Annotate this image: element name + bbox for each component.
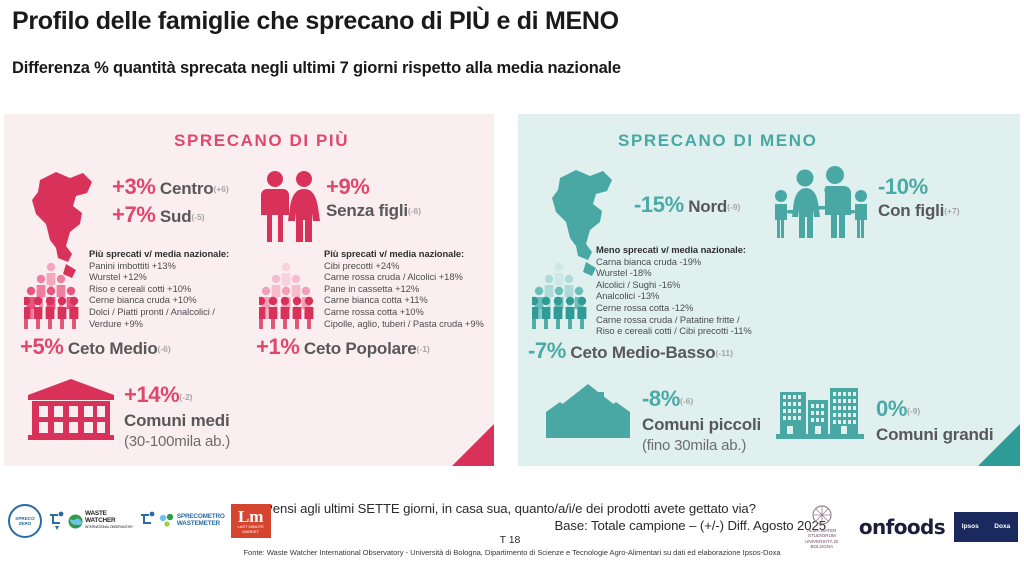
town-large-value: 0% bbox=[876, 396, 907, 421]
family-icon bbox=[771, 166, 871, 240]
globe-icon bbox=[68, 514, 83, 529]
geo-centro-delta: (+6) bbox=[213, 184, 228, 194]
lm-letter: Lm bbox=[238, 509, 264, 524]
sm-line2: WASTEMETER bbox=[177, 521, 225, 528]
unibo-text: ALMA MATER STUDIORUM UNIVERSITÀ DI BOLOG… bbox=[794, 528, 850, 550]
town-small-sublabel: (fino 30mila ab.) bbox=[642, 437, 761, 454]
lm-sub2: MARKET bbox=[242, 529, 259, 534]
waste-watcher-logo: WASTE WATCHER INTERNATIONAL OBSERVATORY bbox=[48, 511, 133, 531]
town-large-label: Comuni grandi bbox=[876, 425, 993, 445]
geo-stats-more: +3% Centro(+6) +7% Sud(-5) bbox=[112, 176, 229, 227]
geo-nord-label: Nord bbox=[688, 197, 727, 216]
geo-row-sud: +7% Sud(-5) bbox=[112, 204, 229, 227]
onfoods-logo: onfoods bbox=[859, 515, 945, 539]
household-more-delta: (-6) bbox=[408, 206, 421, 216]
houses-icon bbox=[542, 382, 634, 440]
header: Profilo delle famiglie che sprecano di P… bbox=[12, 6, 1012, 78]
food-item: Wurstel -18% bbox=[596, 267, 826, 279]
unibo-logo: ALMA MATER STUDIORUM UNIVERSITÀ DI BOLOG… bbox=[794, 504, 850, 550]
town-small-delta: (-6) bbox=[680, 396, 693, 406]
class-stat-more-left: +5% Ceto Medio(-6) bbox=[20, 334, 171, 360]
food-item: Cipolle, aglio, tuberi / Pasta cruda +9% bbox=[324, 318, 494, 330]
food-item: Cerne rossa cotta -12% bbox=[596, 302, 826, 314]
household-less-value: -10% bbox=[878, 176, 960, 199]
footer-logos-right: ALMA MATER STUDIORUM UNIVERSITÀ DI BOLOG… bbox=[794, 504, 1018, 550]
geo-row-centro: +3% Centro(+6) bbox=[112, 176, 229, 199]
doxa-text: Doxa bbox=[994, 523, 1010, 530]
food-item: Alcolici / Sughi -16% bbox=[596, 279, 826, 291]
foods-more-right-title: Più sprecati v/ media nazionale: bbox=[324, 248, 494, 260]
geo-sud-delta: (-5) bbox=[191, 212, 204, 222]
geo-centro-value: +3% bbox=[112, 174, 155, 199]
ww-line3: INTERNATIONAL OBSERVATORY bbox=[85, 524, 133, 531]
sprecometro-text: SPRECOMETRO WASTEMETER bbox=[177, 514, 225, 527]
couple-icon bbox=[259, 170, 321, 244]
household-stat-more: +9% Senza figli(-6) bbox=[326, 176, 421, 221]
household-stat-less: -10% Con figli(+7) bbox=[878, 176, 960, 221]
footer-question: Pensi agli ultimi SETTE giorni, in casa … bbox=[190, 500, 830, 534]
class-less-label: Ceto Medio-Basso bbox=[570, 343, 715, 362]
food-item: Pane in cassetta +12% bbox=[324, 283, 494, 295]
page-subtitle: Differenza % quantità sprecata negli ult… bbox=[12, 58, 1012, 78]
foods-list-less: Meno sprecati v/ media nazionale: Carna … bbox=[596, 244, 826, 337]
spreco-zero-logo: SPRECO ZERO bbox=[8, 504, 42, 538]
household-less-delta: (+7) bbox=[944, 206, 959, 216]
unibo-crest-icon bbox=[809, 504, 835, 528]
sprecometro-logo: SPRECOMETRO WASTEMETER bbox=[139, 511, 225, 531]
class-more-right-label: Ceto Popolare bbox=[304, 339, 417, 358]
food-item: Cibi precotti +24% bbox=[324, 260, 494, 272]
corner-accent-less bbox=[978, 424, 1020, 466]
footer-question-line2: Base: Totale campione – (+/-) Diff. Agos… bbox=[190, 517, 830, 534]
food-item: Carne rossa cotta +10% bbox=[324, 306, 494, 318]
faucet-icon bbox=[48, 511, 66, 531]
food-item: Carne rossa cruda / Patatine fritte / bbox=[596, 314, 826, 326]
food-item: Carne bianca cotta +11% bbox=[324, 294, 494, 306]
class-more-left-value: +5% bbox=[20, 334, 63, 359]
town-small-label: Comuni piccoli bbox=[642, 415, 761, 435]
class-more-right-value: +1% bbox=[256, 334, 299, 359]
ww-line2: WATCHER bbox=[85, 518, 133, 525]
footer-table-ref: T 18 bbox=[190, 534, 830, 546]
class-more-right-delta: (-1) bbox=[417, 344, 430, 354]
food-item: Riso e cereali cotti / Cibi precotti -11… bbox=[596, 325, 826, 337]
town-large-delta: (-9) bbox=[907, 406, 920, 416]
town-stat-more: +14%(-2) Comuni medi (30-100mila ab.) bbox=[124, 382, 230, 450]
people-pyramid-icon bbox=[532, 262, 590, 330]
class-less-delta: (-11) bbox=[715, 348, 732, 358]
foods-list-more-right: Più sprecati v/ media nazionale: Cibi pr… bbox=[324, 248, 494, 329]
town-hall-icon bbox=[26, 379, 116, 441]
slide: Profilo delle famiglie che sprecano di P… bbox=[0, 0, 1024, 568]
food-item: Analcolici -13% bbox=[596, 290, 826, 302]
ipsos-text: Ipsos bbox=[962, 523, 979, 530]
geo-sud-label: Sud bbox=[160, 207, 192, 226]
household-more-value: +9% bbox=[326, 176, 421, 199]
geo-nord-delta: (-9) bbox=[727, 202, 740, 212]
class-stat-less: -7% Ceto Medio-Basso(-11) bbox=[528, 338, 733, 364]
town-more-value: +14% bbox=[124, 382, 179, 407]
food-item: Carne rossa cruda / Alcolici +18% bbox=[324, 271, 494, 283]
buildings-icon bbox=[776, 382, 864, 440]
panel-sprecano-di-meno: SPRECANO DI MENO -15% Nord(-9) bbox=[518, 114, 1020, 466]
people-pyramid-icon bbox=[24, 262, 82, 330]
class-more-left-label: Ceto Medio bbox=[68, 339, 158, 358]
people-pyramid-icon bbox=[259, 262, 317, 330]
food-item: Carna bianca cruda -19% bbox=[596, 256, 826, 268]
town-small-value: -8% bbox=[642, 386, 680, 411]
geo-sud-value: +7% bbox=[112, 202, 155, 227]
geo-nord-value: -15% bbox=[634, 192, 684, 217]
footer-logos-left: SPRECO ZERO WASTE WATCHER INTERNATIONAL … bbox=[8, 504, 271, 538]
geo-row-nord: -15% Nord(-9) bbox=[634, 194, 740, 217]
foods-more-left-title: Più sprecati v/ media nazionale: bbox=[89, 248, 289, 260]
town-large-stat: 0%(-9) Comuni grandi bbox=[876, 396, 993, 445]
geo-stats-less: -15% Nord(-9) bbox=[634, 194, 740, 217]
town-small-stat: -8%(-6) Comuni piccoli (fino 30mila ab.) bbox=[642, 386, 761, 454]
panel-more-title: SPRECANO DI PIÙ bbox=[114, 131, 349, 151]
last-minute-market-logo: Lm LAST MINUTE MARKET bbox=[231, 504, 271, 538]
waste-watcher-text: WASTE WATCHER INTERNATIONAL OBSERVATORY bbox=[85, 511, 133, 531]
town-more-delta: (-2) bbox=[179, 392, 192, 402]
ipsos-doxa-logo: Ipsos Doxa bbox=[954, 512, 1018, 542]
footer-question-line1: Pensi agli ultimi SETTE giorni, in casa … bbox=[264, 501, 756, 516]
class-stat-more-right: +1% Ceto Popolare(-1) bbox=[256, 334, 430, 360]
town-more-sublabel: (30-100mila ab.) bbox=[124, 433, 230, 450]
dots-icon bbox=[159, 514, 175, 528]
household-less-label: Con figli bbox=[878, 201, 944, 220]
town-more-label: Comuni medi bbox=[124, 411, 230, 431]
foods-less-title: Meno sprecati v/ media nazionale: bbox=[596, 244, 826, 256]
household-more-label: Senza figli bbox=[326, 201, 408, 220]
panel-sprecano-di-piu: SPRECANO DI PIÙ +3% Centro(+6) +7% Sud(-… bbox=[4, 114, 494, 466]
class-more-left-delta: (-6) bbox=[158, 344, 171, 354]
geo-centro-label: Centro bbox=[160, 179, 214, 198]
panel-less-title: SPRECANO DI MENO bbox=[618, 131, 817, 151]
corner-accent-more bbox=[452, 424, 494, 466]
page-title: Profilo delle famiglie che sprecano di P… bbox=[12, 6, 1012, 36]
class-less-value: -7% bbox=[528, 338, 566, 363]
faucet-icon bbox=[139, 511, 157, 531]
